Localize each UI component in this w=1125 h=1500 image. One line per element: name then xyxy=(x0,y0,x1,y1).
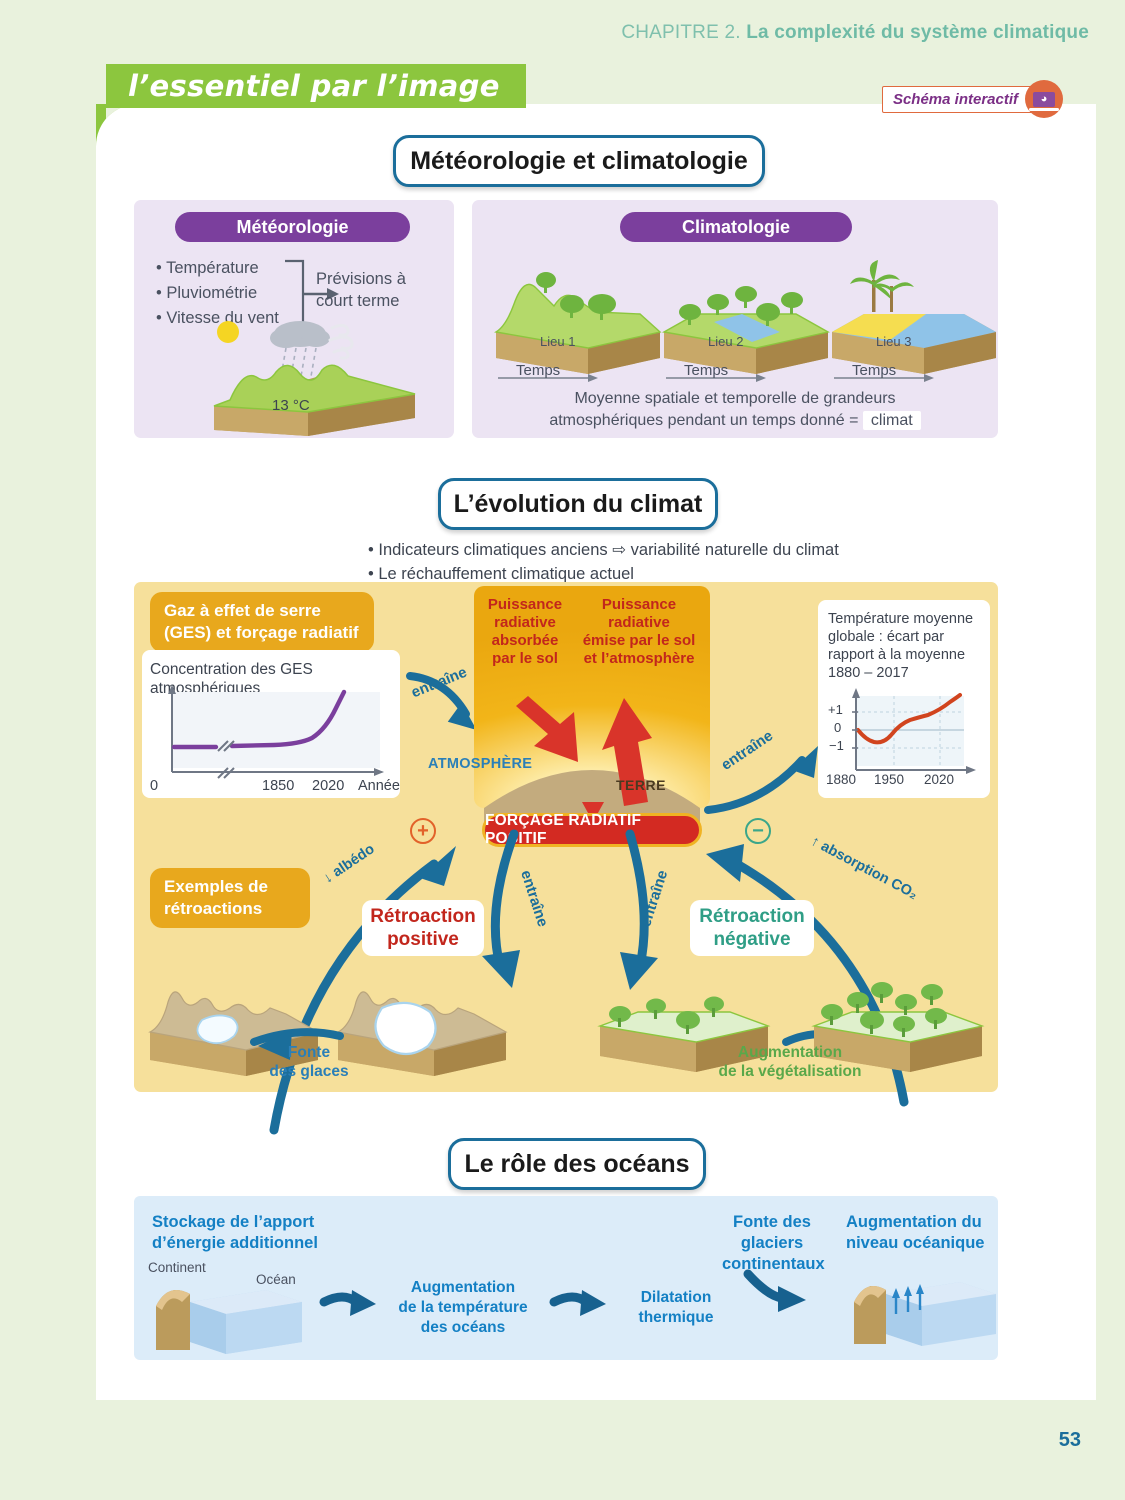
caption-fonte-des-glaces: Fonte des glaces xyxy=(254,1043,364,1081)
chart-temp-xtick-2: 2020 xyxy=(924,772,954,787)
laptop-wifi-icon: ◕ xyxy=(1025,80,1063,118)
step2-l1: Dilatation xyxy=(626,1288,726,1308)
card-retroaction-positive: Rétroaction positive xyxy=(362,900,484,956)
tag-climatologie: Climatologie xyxy=(620,212,852,242)
chart-ges-xtick-2: 2020 xyxy=(312,778,344,794)
ocean-arrow-3 xyxy=(742,1272,812,1322)
cloud-icon xyxy=(270,321,330,348)
page-number: 53 xyxy=(1059,1429,1081,1452)
ocean-arrow-1 xyxy=(322,1288,382,1322)
tag-ges-line2: (GES) et forçage radiatif xyxy=(164,622,360,644)
chart-temp-xtick-0: 1880 xyxy=(826,772,856,787)
retro-negative-l2: négative xyxy=(699,928,805,951)
fonte-l1: Fonte xyxy=(254,1043,364,1062)
step1-l3: des océans xyxy=(398,1318,528,1338)
label-stockage-energie: Stockage de l’apport d’énergie additionn… xyxy=(152,1212,318,1254)
evolution-bullet-0: • Indicateurs climatiques anciens ⇨ vari… xyxy=(368,538,839,562)
place-time-label-1: Temps xyxy=(516,362,560,379)
label-fonte-glaciers: Fonte des glaciers continentaux xyxy=(722,1212,822,1275)
chart-temperature-plot xyxy=(828,690,980,784)
chart-temp-ytick-0: +1 xyxy=(828,702,843,717)
step2-l2: thermique xyxy=(626,1308,726,1328)
section-title-meteo-climato: Météorologie et climatologie xyxy=(393,135,765,187)
chart-ges-xtick-1: 1850 xyxy=(262,778,294,794)
tag-ges-line1: Gaz à effet de serre xyxy=(164,600,360,622)
label-emitted-power: Puissance radiative émise par le sol et … xyxy=(580,596,698,668)
sealevel-l2: niveau océanique xyxy=(846,1233,984,1254)
fonte-l2: des glaces xyxy=(254,1062,364,1081)
section-title-oceans: Le rôle des océans xyxy=(448,1138,706,1190)
chart-ges-xlabel: Année xyxy=(358,778,400,794)
retro-positive-l2: positive xyxy=(370,928,476,951)
evolution-bullet-list: • Indicateurs climatiques anciens ⇨ vari… xyxy=(368,538,839,586)
section-title-evolution: L’évolution du climat xyxy=(438,478,718,530)
meteo-forecast-line1: Prévisions à xyxy=(316,268,406,290)
step1-l2: de la température xyxy=(398,1298,528,1318)
climat-caption-line2: atmosphériques pendant un temps donné = … xyxy=(472,410,998,432)
step-dilatation-thermique: Dilatation thermique xyxy=(626,1288,726,1328)
sun-icon xyxy=(217,321,239,343)
veg-l2: de la végétalisation xyxy=(700,1062,880,1081)
absorbed-l1: Puissance xyxy=(482,596,568,614)
sea-level-rise-illustration xyxy=(848,1268,1008,1348)
chart-temp-title-text: Température moyenne globale : écart par … xyxy=(828,611,973,681)
rising-arrows-icon xyxy=(892,1284,924,1314)
place-time-label-2: Temps xyxy=(684,362,728,379)
absorbed-l2: radiative xyxy=(482,614,568,632)
svg-text:Lieu 3: Lieu 3 xyxy=(876,334,911,349)
glacier-l1: Fonte des xyxy=(722,1212,822,1233)
sealevel-l1: Augmentation du xyxy=(846,1212,984,1233)
glacier-shape-large xyxy=(375,1003,435,1054)
step1-l1: Augmentation xyxy=(398,1278,528,1298)
climat-caption-line2-text: atmosphériques pendant un temps donné = xyxy=(549,412,858,429)
arrow-entraine-to-ice xyxy=(495,834,514,966)
ocean-arrow-2 xyxy=(552,1288,612,1322)
emitted-l2: radiative xyxy=(580,614,698,632)
label-terre: TERRE xyxy=(616,777,666,793)
emitted-l3: émise par le sol xyxy=(580,632,698,650)
climato-blocks-illustration: Lieu 1 Lieu 2 xyxy=(488,254,998,394)
wind-icon xyxy=(330,325,352,358)
label-atmosphere: ATMOSPHÈRE xyxy=(428,756,532,772)
retro-positive-l1: Rétroaction xyxy=(370,905,476,928)
caption-augmentation-vegetalisation: Augmentation de la végétalisation xyxy=(700,1043,880,1081)
chart-ges-plot xyxy=(150,688,396,792)
climat-caption-line1: Moyenne spatiale et temporelle de grande… xyxy=(472,388,998,410)
chart-ges-xtick-0: 0 xyxy=(150,778,158,794)
chapter-prefix: CHAPITRE 2. xyxy=(621,22,740,43)
chart-temp-ytick-2: −1 xyxy=(829,738,844,753)
chart-title-temperature: Température moyenne globale : écart par … xyxy=(828,610,986,682)
climat-chip: climat xyxy=(863,411,921,430)
arrow-absorbed-red xyxy=(516,696,578,762)
label-absorbed-power: Puissance radiative absorbée par le sol xyxy=(482,596,568,668)
stockage-l2: d’énergie additionnel xyxy=(152,1233,318,1254)
meteo-forecast-line2: court terme xyxy=(316,290,406,312)
sun-box-arrows xyxy=(474,676,710,826)
retro-negative-l1: Rétroaction xyxy=(699,905,805,928)
chart-temp-xtick-1: 1950 xyxy=(874,772,904,787)
emitted-l4: et l’atmosphère xyxy=(580,650,698,668)
meteo-landscape-illustration: 13 °C xyxy=(200,318,430,438)
label-augmentation-niveau: Augmentation du niveau océanique xyxy=(846,1212,984,1254)
svg-text:Lieu 1: Lieu 1 xyxy=(540,334,575,349)
essentiel-banner: l’essentiel par l’image xyxy=(106,64,526,108)
ocean-continent-illustration xyxy=(146,1272,316,1360)
tag-meteorologie: Météorologie xyxy=(175,212,410,242)
chapter-header: CHAPITRE 2. La complexité du système cli… xyxy=(621,22,1089,44)
chapter-title: La complexité du système climatique xyxy=(746,22,1089,43)
card-retroaction-negative: Rétroaction négative xyxy=(690,900,814,956)
climat-definition-caption: Moyenne spatiale et temporelle de grande… xyxy=(472,388,998,432)
meteo-bullet-0: • Température xyxy=(156,256,279,281)
emitted-l1: Puissance xyxy=(580,596,698,614)
tag-ges-forcage: Gaz à effet de serre (GES) et forçage ra… xyxy=(150,592,374,652)
svg-text:Lieu 2: Lieu 2 xyxy=(708,334,743,349)
absorbed-l4: par le sol xyxy=(482,650,568,668)
chart-temp-ytick-1: 0 xyxy=(834,720,841,735)
interactive-schema-badge[interactable]: Schéma interactif ◕ xyxy=(882,80,1063,118)
veg-l1: Augmentation xyxy=(700,1043,880,1062)
palm-tree-icon xyxy=(850,260,914,312)
meteo-bullet-1: • Pluviométrie xyxy=(156,281,279,306)
glacier-shape-small xyxy=(197,1015,237,1043)
stockage-l1: Stockage de l’apport xyxy=(152,1212,318,1233)
place-time-label-3: Temps xyxy=(852,362,896,379)
absorbed-l3: absorbée xyxy=(482,632,568,650)
meteo-forecast-text: Prévisions à court terme xyxy=(316,268,406,312)
glacier-l2: glaciers xyxy=(722,1233,822,1254)
step-augmentation-temperature: Augmentation de la température des océan… xyxy=(398,1278,528,1338)
meteo-temperature-value: 13 °C xyxy=(272,397,310,414)
arrow-entraine-to-veg xyxy=(630,834,644,966)
